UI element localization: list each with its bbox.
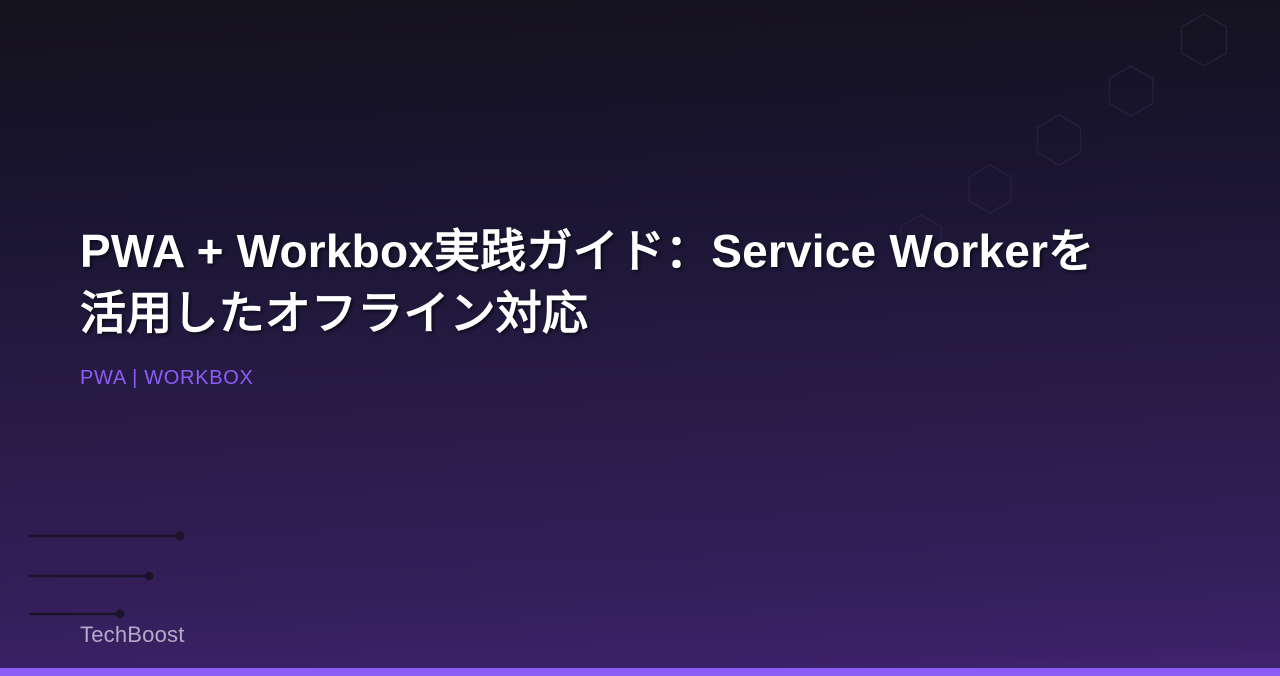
slide-subtitle-tags: PWA | WORKBOX <box>80 364 254 392</box>
decorative-line-dot-2 <box>145 572 154 581</box>
decorative-line-dot-1 <box>176 532 185 541</box>
hexagon-icon-4 <box>969 165 1011 213</box>
title-block: PWA + Workbox実践ガイド：Service Workerを 活用したオ… <box>80 220 1210 344</box>
hexagon-icon-2 <box>1109 66 1152 116</box>
brand-name: TechBoost <box>80 620 185 650</box>
hexagon-icon-1 <box>1182 14 1227 66</box>
presentation-slide: PWA + Workbox実践ガイド：Service Workerを 活用したオ… <box>0 0 1280 676</box>
bottom-accent-bar <box>0 668 1280 676</box>
slide-title: PWA + Workbox実践ガイド：Service Workerを 活用したオ… <box>80 220 1210 344</box>
hexagon-icon-3 <box>1037 115 1080 165</box>
decorative-line-dot-3 <box>116 610 125 619</box>
